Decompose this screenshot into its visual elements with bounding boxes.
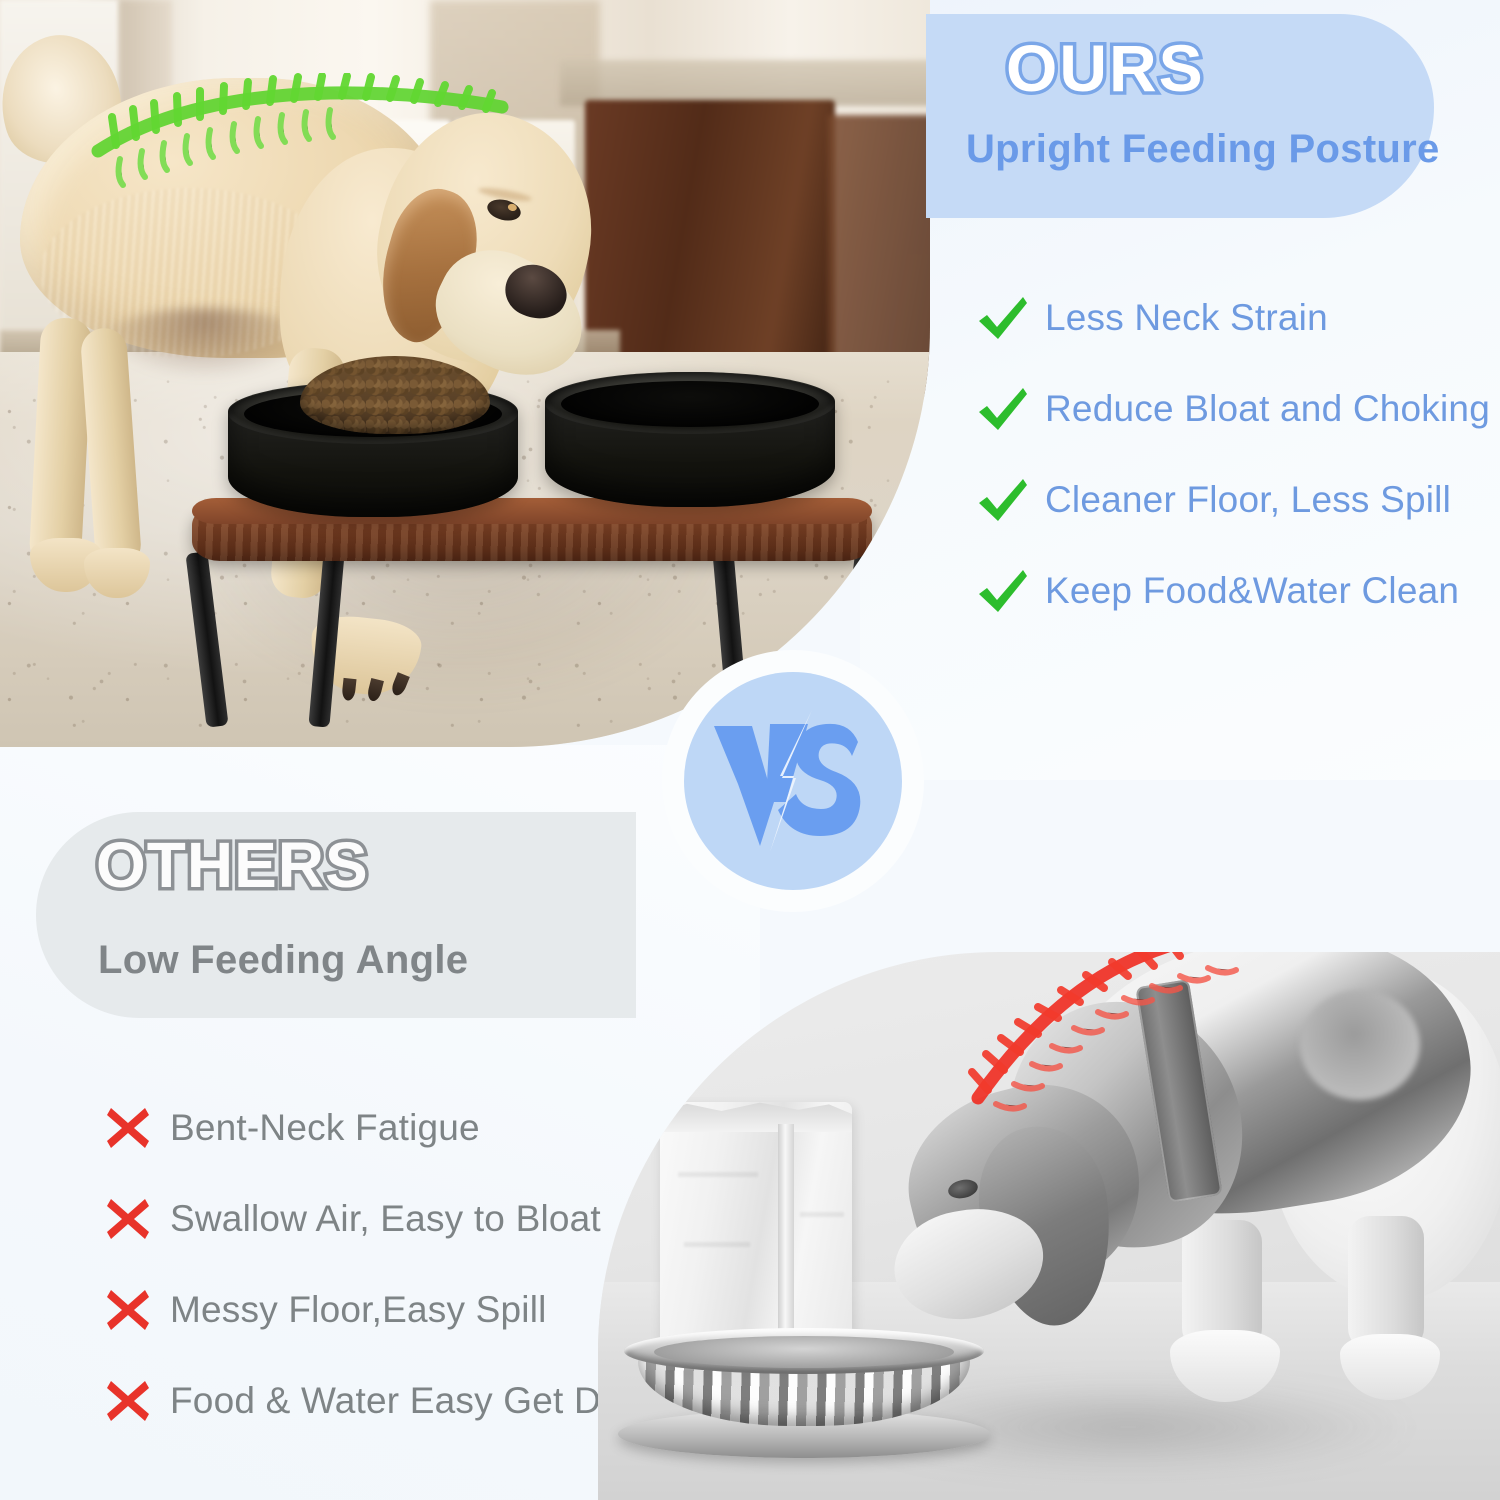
food-bag-crease (800, 1212, 844, 1217)
dog-claw (390, 672, 410, 697)
food-bag-crease (678, 1172, 758, 1177)
check-icon (975, 568, 1031, 614)
beagle-coat-spot (1300, 990, 1420, 1100)
check-icon (975, 386, 1031, 432)
stainless-steel-bowl (618, 1328, 990, 1460)
labrador-dog (0, 18, 600, 718)
benefit-label: Keep Food&Water Clean (1045, 570, 1459, 612)
benefit-item: Less Neck Strain (975, 272, 1495, 363)
red-spine-overlay-icon (966, 952, 1296, 1112)
dog-hind-paw-right (84, 548, 150, 598)
water-bowl-interior (561, 381, 819, 427)
others-subtitle: Low Feeding Angle (98, 938, 468, 983)
cross-icon (104, 1104, 152, 1152)
benefit-label: Cleaner Floor, Less Spill (1045, 479, 1451, 521)
ours-product-photo (0, 0, 930, 747)
cross-icon (104, 1195, 152, 1243)
steel-bowl-interior (654, 1336, 954, 1368)
comparison-infographic: OURS Upright Feeding Posture Less Neck S… (0, 0, 1500, 1500)
benefit-item: Keep Food&Water Clean (975, 545, 1495, 636)
dog-claw (341, 678, 356, 701)
beagle-front-paw (1170, 1330, 1280, 1402)
benefit-label: Less Neck Strain (1045, 297, 1328, 339)
ours-benefits-list: Less Neck Strain Reduce Bloat and Chokin… (975, 272, 1495, 636)
cross-icon (104, 1286, 152, 1334)
food-bag-crease (684, 1242, 750, 1247)
beagle-hind-leg (1348, 1216, 1424, 1350)
others-title: OTHERS (96, 828, 369, 902)
benefit-label: Reduce Bloat and Choking (1045, 388, 1490, 430)
drawback-label: Food & Water Easy Get Dirty (170, 1380, 651, 1422)
drawback-item: Bent-Neck Fatigue (104, 1082, 724, 1173)
ours-subtitle: Upright Feeding Posture (966, 127, 1440, 172)
vs-lightning-icon (708, 706, 878, 856)
check-icon (975, 295, 1031, 341)
benefit-item: Reduce Bloat and Choking (975, 363, 1495, 454)
drawback-label: Swallow Air, Easy to Bloat (170, 1198, 601, 1240)
vs-badge (684, 672, 902, 890)
drawback-label: Bent-Neck Fatigue (170, 1107, 480, 1149)
drawback-label: Messy Floor,Easy Spill (170, 1289, 547, 1331)
dog-claw (366, 678, 384, 702)
dog-belly-shadow (100, 308, 310, 378)
check-icon (975, 477, 1031, 523)
beagle-hind-paw (1340, 1334, 1440, 1400)
benefit-item: Cleaner Floor, Less Spill (975, 454, 1495, 545)
cross-icon (104, 1377, 152, 1425)
green-spine-overlay-icon (90, 73, 510, 203)
ours-title: OURS (1006, 30, 1205, 106)
